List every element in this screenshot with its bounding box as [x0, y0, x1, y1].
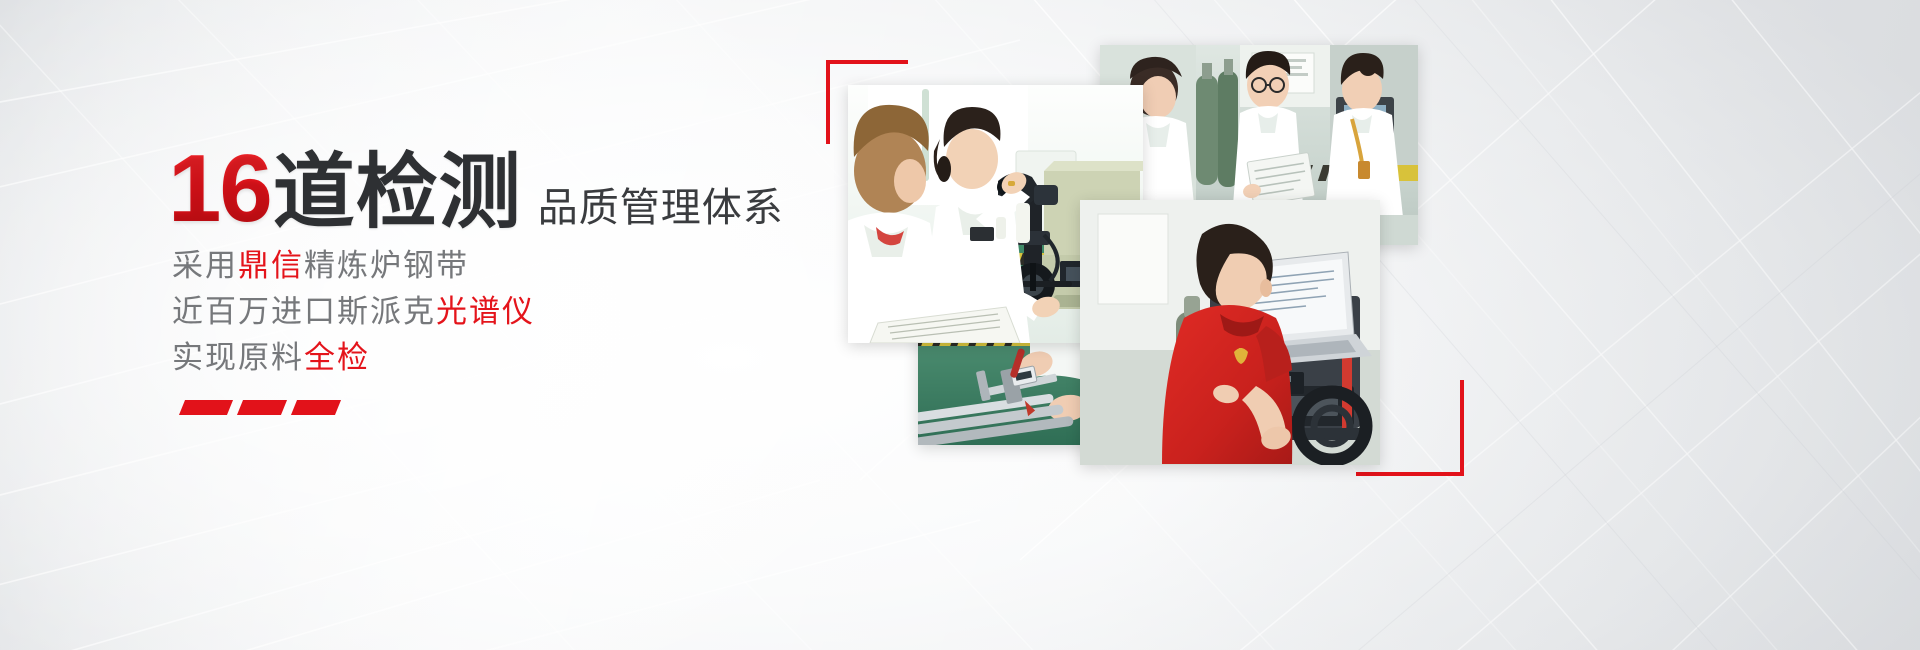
body-line-2: 近百万进口斯派克光谱仪: [172, 289, 535, 335]
headline-number: 16: [168, 143, 271, 234]
body-line-2-pre: 近百万进口斯派克: [172, 294, 436, 330]
body-line-1-pre: 采用: [172, 248, 238, 284]
accent-dash-3: [291, 400, 341, 415]
accent-dash-2: [237, 400, 287, 415]
photo-spectrometer-operator: [1080, 200, 1380, 465]
body-copy: 采用鼎信精炼炉钢带 近百万进口斯派克光谱仪 实现原料全检: [172, 243, 535, 381]
photo-collage: [800, 0, 1920, 650]
headline-subtitle: 品质管理体系: [538, 188, 784, 228]
accent-dash-1: [179, 400, 233, 415]
body-line-1-post: 精炼炉钢带: [304, 248, 469, 284]
headline: 16 道检测 品质管理体系: [168, 143, 784, 234]
body-line-3-highlight: 全检: [304, 340, 370, 376]
text-column: 16 道检测 品质管理体系 采用鼎信精炼炉钢带 近百万进口斯派克光谱仪 实现原料…: [168, 0, 868, 650]
body-line-3: 实现原料全检: [172, 335, 535, 381]
quality-inspection-banner: 16 道检测 品质管理体系 采用鼎信精炼炉钢带 近百万进口斯派克光谱仪 实现原料…: [0, 0, 1920, 650]
body-line-3-pre: 实现原料: [172, 340, 304, 376]
accent-dashes: [182, 400, 338, 415]
body-line-2-highlight: 光谱仪: [436, 294, 535, 330]
headline-main: 道检测: [273, 152, 522, 234]
body-line-1-highlight: 鼎信: [238, 248, 304, 284]
body-line-1: 采用鼎信精炼炉钢带: [172, 243, 535, 289]
